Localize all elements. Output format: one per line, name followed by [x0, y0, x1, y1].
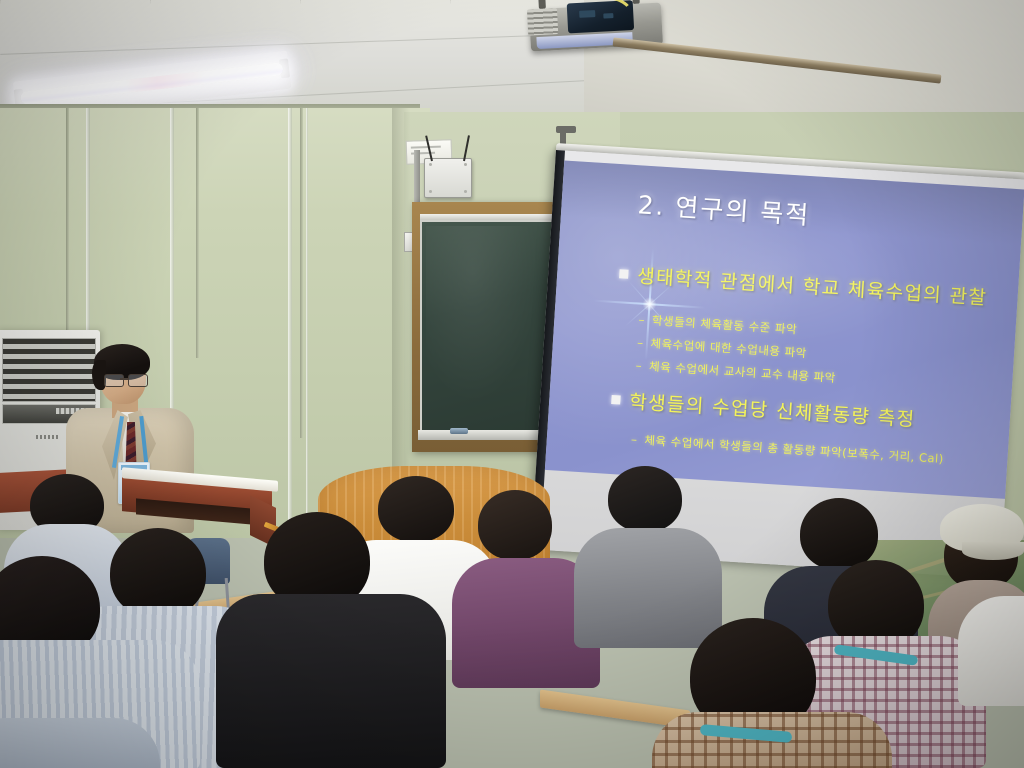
glasses-icon	[128, 374, 148, 387]
presentation-slide: 2. 연구의 목적 생태학적 관점에서 학교 체육수업의 관찰 –학생들의 체육…	[545, 161, 1024, 499]
slide-sub-2-1-text: 체육 수업에서 학생들의 총 활동량 파악(보폭수, 거리, Cal)	[644, 433, 944, 466]
classroom-photo: 2. 연구의 목적 생태학적 관점에서 학교 체육수업의 관찰 –학생들의 체육…	[0, 0, 1024, 768]
slide-sub-1-1-text: 학생들의 체육활동 수준 파악	[652, 313, 798, 336]
bullet-square-icon	[619, 269, 629, 279]
slide-bullet-1-text: 생태학적 관점에서 학교 체육수업의 관찰	[636, 261, 988, 310]
dash-icon: –	[631, 432, 638, 446]
slide-sub-1-2-text: 체육수업에 대한 수업내용 파악	[650, 336, 807, 360]
slide-sub-1-2: –체육수업에 대한 수업내용 파악	[637, 334, 808, 361]
dash-icon: –	[635, 358, 642, 372]
slide-bullet-1: 생태학적 관점에서 학교 체육수업의 관찰	[619, 260, 989, 310]
slide-bullet-2: 학생들의 수업당 신체활동량 측정	[611, 386, 917, 432]
access-point-bracket	[414, 150, 420, 210]
eraser-icon[interactable]	[450, 428, 468, 434]
bullet-square-icon	[611, 395, 621, 405]
slide-sub-1-1: –학생들의 체육활동 수준 파악	[638, 312, 798, 338]
ceiling-projector	[521, 0, 672, 60]
screen-mount-hook	[556, 126, 576, 133]
dash-icon: –	[638, 313, 645, 327]
wireless-access-point-icon	[424, 158, 472, 198]
dash-icon: –	[637, 335, 644, 349]
slide-sub-2-1: –체육 수업에서 학생들의 총 활동량 파악(보폭수, 거리, Cal)	[630, 431, 944, 467]
slide-sub-1-3-text: 체육 수업에서 교사의 교수 내용 파악	[649, 359, 836, 385]
glasses-icon	[104, 374, 124, 387]
slide-bullet-2-text: 학생들의 수업당 신체활동량 측정	[629, 387, 917, 432]
slide-sub-1-3: –체육 수업에서 교사의 교수 내용 파악	[635, 357, 836, 386]
